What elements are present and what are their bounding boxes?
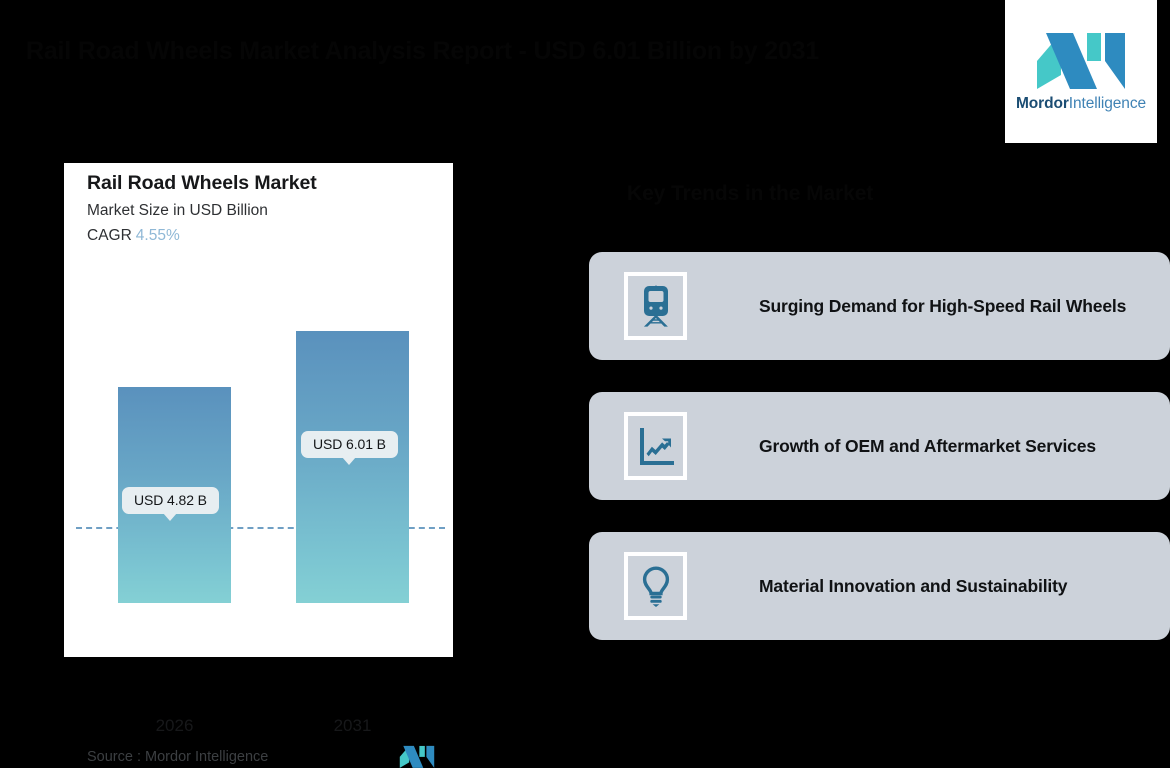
chart-title: Rail Road Wheels Market: [87, 172, 317, 195]
source-label: Source :: [87, 749, 141, 765]
source-mordor-logo-icon: [399, 745, 435, 768]
mordor-intelligence-logo: MordorIntelligence: [1005, 0, 1157, 143]
chart-cagr: CAGR4.55%: [87, 227, 180, 245]
logo-brand-light: Intelligence: [1069, 95, 1146, 112]
source-row: Source : Mordor Intelligence: [87, 745, 435, 768]
lightbulb-icon-frame: [624, 552, 687, 620]
trend-card-1-label: Surging Demand for High-Speed Rail Wheel…: [759, 296, 1126, 317]
right-panel-heading: Key Trends in the Market: [627, 182, 873, 206]
trend-card-2-label: Growth of OEM and Aftermarket Services: [759, 436, 1096, 457]
trend-card-2[interactable]: Growth of OEM and Aftermarket Services: [589, 392, 1170, 500]
bar-value-label-2031: USD 6.01 B: [301, 431, 398, 458]
source-text: Source : Mordor Intelligence: [87, 749, 268, 765]
train-icon: [636, 285, 676, 327]
source-name: Mordor Intelligence: [145, 749, 268, 765]
train-icon-frame: [624, 272, 687, 340]
chart-card: Rail Road Wheels Market Market Size in U…: [64, 163, 453, 657]
lightbulb-icon: [636, 565, 676, 607]
trend-cards-list: Surging Demand for High-Speed Rail Wheel…: [589, 252, 1170, 672]
x-axis-label-2031: 2031: [296, 716, 409, 736]
bar-value-label-2026: USD 4.82 B: [122, 487, 219, 514]
page-title: Rail Road Wheels Market Analysis Report …: [26, 34, 926, 68]
x-axis-label-2026: 2026: [118, 716, 231, 736]
bar-2031: [296, 331, 409, 603]
cagr-label: CAGR: [87, 227, 132, 244]
growth-chart-icon-frame: [624, 412, 687, 480]
chart-subtitle: Market Size in USD Billion: [87, 202, 268, 220]
growth-chart-icon: [636, 425, 676, 467]
logo-wordmark: MordorIntelligence: [1016, 95, 1146, 113]
trend-card-3[interactable]: Material Innovation and Sustainability: [589, 532, 1170, 640]
bar-chart-plot: USD 4.82 B USD 6.01 B 2026 2031 Source :…: [64, 273, 453, 603]
cagr-value: 4.55%: [136, 227, 180, 244]
trend-card-1[interactable]: Surging Demand for High-Speed Rail Wheel…: [589, 252, 1170, 360]
mordor-m-logo-icon: [1035, 31, 1127, 89]
trend-card-3-label: Material Innovation and Sustainability: [759, 576, 1067, 597]
logo-brand-bold: Mordor: [1016, 95, 1069, 112]
